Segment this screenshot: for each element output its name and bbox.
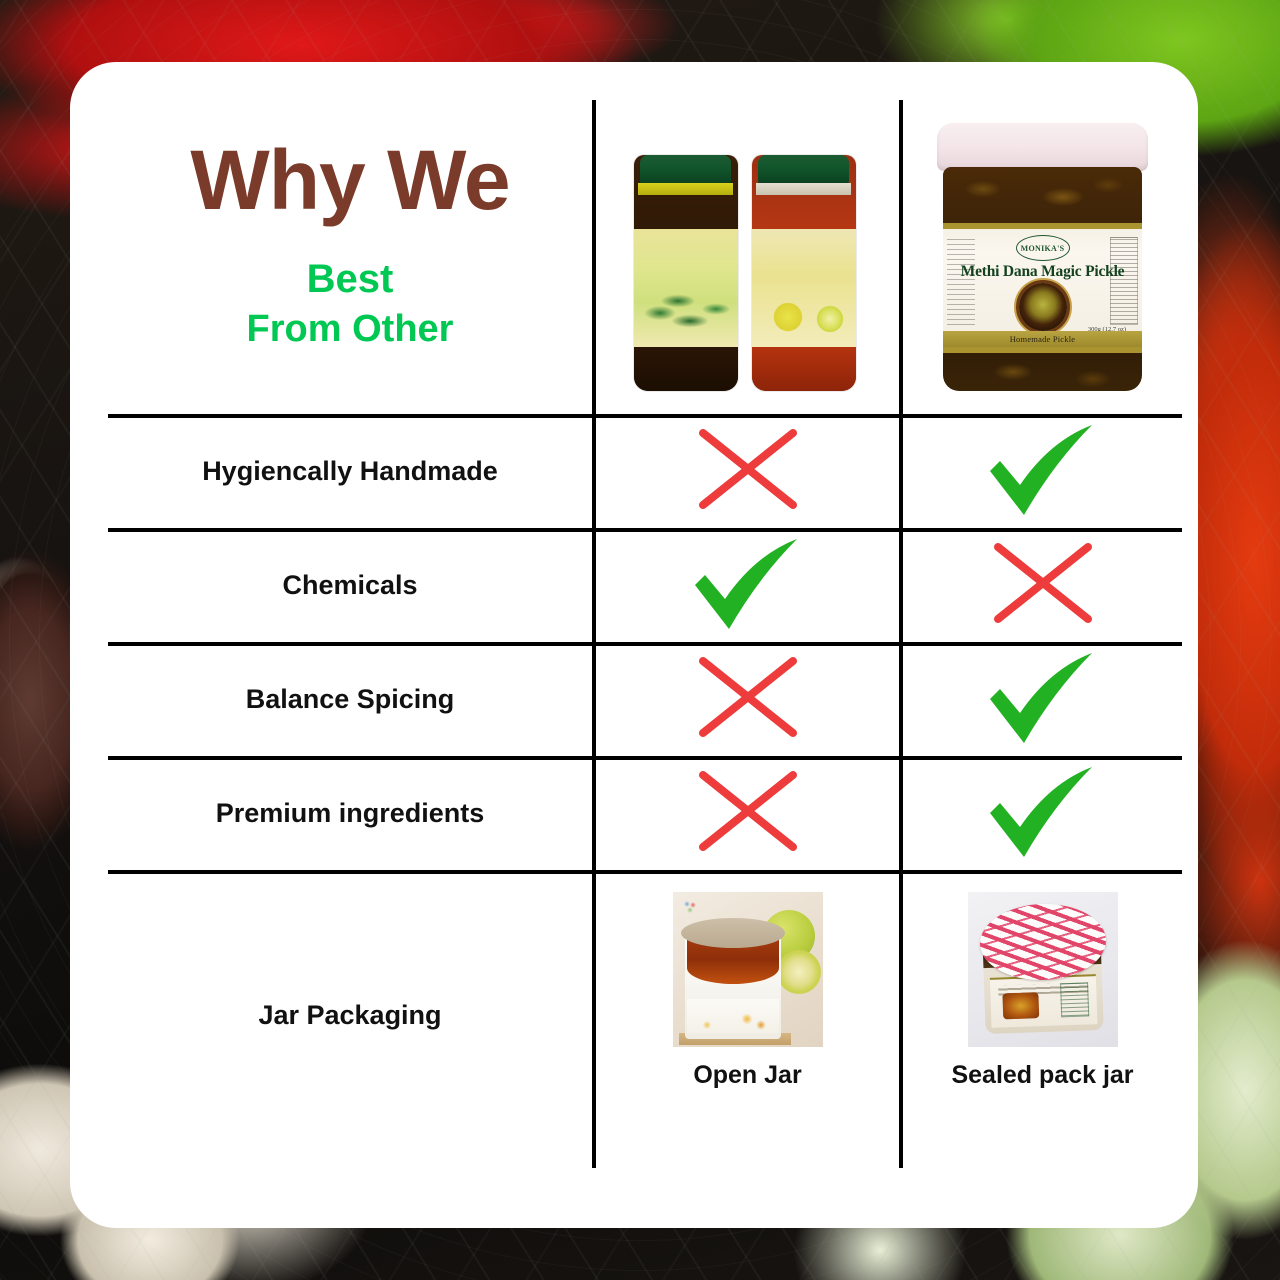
foil-seal-icon xyxy=(978,902,1107,982)
product-jar-image: MONIKA'S Methi Dana Magic Pickle 300g (1… xyxy=(935,123,1150,391)
lemon-slice-graphic xyxy=(777,950,821,994)
jar-label xyxy=(752,229,856,347)
row-label-hygiencally-handmade: Hygiencally Handmade xyxy=(108,414,592,528)
check-icon xyxy=(984,765,1102,861)
competitor-jar-dark xyxy=(634,155,738,391)
mint-leaves-graphic xyxy=(638,287,734,343)
row-label-premium-ingredients: Premium ingredients xyxy=(108,756,592,870)
cross-icon xyxy=(693,767,803,859)
label-nutrition-table xyxy=(1060,982,1089,1017)
row-label-balance-spicing: Balance Spicing xyxy=(108,642,592,756)
row-label-jar-packaging: Jar Packaging xyxy=(108,870,592,1160)
cell-other-row4 xyxy=(596,756,899,870)
header-cell-our-product: MONIKA'S Methi Dana Magic Pickle 300g (1… xyxy=(903,100,1182,414)
jar-label xyxy=(989,974,1097,1028)
label-nutrition-table xyxy=(1110,237,1138,325)
label-fruit-graphic xyxy=(691,1003,775,1031)
jar-neck xyxy=(638,183,734,195)
title-subtitle-best: Best xyxy=(307,258,394,300)
foil-seal-pattern xyxy=(978,902,1107,982)
title-subtitle-from-other: From Other xyxy=(247,310,454,350)
jar-contents xyxy=(634,347,738,391)
title-block: Why We Best From Other xyxy=(108,100,592,414)
label-ingredients-text xyxy=(947,237,975,325)
cross-icon xyxy=(988,539,1098,631)
open-jar-image xyxy=(673,892,823,1047)
cross-icon xyxy=(693,653,803,745)
check-icon xyxy=(984,651,1102,747)
brand-logo: MONIKA'S xyxy=(1016,235,1070,261)
jar-body: MONIKA'S Methi Dana Magic Pickle 300g (1… xyxy=(943,167,1142,391)
comparison-card: Why We Best From Other xyxy=(70,62,1198,1228)
pickle-medallion-icon xyxy=(1019,283,1067,331)
lemon-graphic xyxy=(758,287,850,341)
cell-other-row3 xyxy=(596,642,899,756)
page-title: Why We xyxy=(190,138,509,222)
jar-label xyxy=(634,229,738,347)
sealed-jar-image xyxy=(968,892,1118,1047)
cell-ours-row3 xyxy=(903,642,1182,756)
jar-lid-icon xyxy=(640,155,732,185)
check-icon xyxy=(984,423,1102,519)
competitor-jars-image xyxy=(632,123,864,391)
jar-neck xyxy=(756,183,852,195)
header-cell-other-brands xyxy=(596,100,899,414)
cell-ours-row4 xyxy=(903,756,1182,870)
caption-open-jar: Open Jar xyxy=(693,1061,801,1090)
cell-other-packaging: Open Jar xyxy=(596,870,899,1168)
cell-other-row2 xyxy=(596,528,899,642)
watermark-logo-icon xyxy=(683,900,697,914)
cell-ours-row2 xyxy=(903,528,1182,642)
jar-contents xyxy=(752,347,856,391)
label-pickle-graphic xyxy=(1002,992,1039,1019)
cell-ours-row1 xyxy=(903,414,1182,528)
jar-open-rim xyxy=(681,918,785,948)
jar-lid-icon xyxy=(758,155,850,185)
check-icon xyxy=(689,537,807,633)
caption-sealed-pack-jar: Sealed pack jar xyxy=(951,1061,1133,1090)
competitor-jar-red xyxy=(752,155,856,391)
product-label: MONIKA'S Methi Dana Magic Pickle 300g (1… xyxy=(943,223,1142,353)
cell-ours-packaging: Sealed pack jar xyxy=(903,870,1182,1168)
cell-other-row1 xyxy=(596,414,899,528)
row-label-chemicals: Chemicals xyxy=(108,528,592,642)
product-name: Methi Dana Magic Pickle xyxy=(943,263,1142,281)
product-footer-banner: Homemade Pickle xyxy=(943,331,1142,347)
jar-lid-icon xyxy=(937,123,1148,171)
cross-icon xyxy=(693,425,803,517)
